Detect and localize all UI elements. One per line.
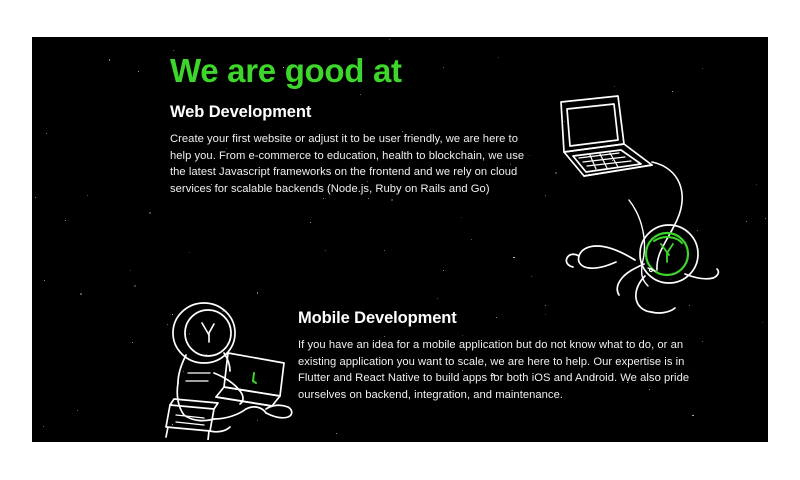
- floating-astronaut-with-laptop-illustration: [517, 92, 727, 317]
- star-dot: [437, 298, 438, 299]
- star-dot: [109, 59, 111, 61]
- star-dot: [461, 217, 462, 218]
- star-dot: [746, 221, 747, 222]
- star-dot: [132, 342, 133, 343]
- star-dot: [87, 195, 88, 196]
- star-dot: [368, 198, 369, 199]
- star-dot: [138, 71, 139, 72]
- star-dot: [360, 94, 361, 95]
- star-dot: [471, 239, 472, 240]
- section-body-web-development: Create your first website or adjust it t…: [170, 131, 528, 197]
- star-dot: [44, 280, 45, 281]
- star-dot: [702, 341, 703, 342]
- star-dot: [462, 335, 463, 336]
- star-dot: [35, 197, 36, 198]
- star-dot: [65, 220, 66, 221]
- star-dot: [756, 184, 757, 185]
- page-title: We are good at: [170, 54, 402, 87]
- star-dot: [189, 252, 190, 253]
- star-dot: [149, 212, 151, 214]
- star-dot: [310, 222, 311, 223]
- star-dot: [257, 292, 259, 294]
- star-dot: [336, 433, 337, 434]
- star-dot: [614, 86, 615, 87]
- star-dot: [130, 270, 131, 271]
- section-body-mobile-development: If you have an idea for a mobile applica…: [298, 337, 690, 403]
- star-dot: [384, 250, 385, 251]
- star-dot: [498, 57, 499, 58]
- star-dot: [77, 410, 78, 411]
- star-dot: [443, 67, 444, 68]
- star-dot: [134, 285, 136, 287]
- star-dot: [325, 250, 326, 251]
- star-dot: [389, 39, 390, 40]
- star-dot: [765, 218, 766, 219]
- star-dot: [43, 426, 44, 427]
- star-dot: [513, 257, 515, 259]
- star-dot: [443, 270, 444, 271]
- seated-astronaut-with-laptop-illustration: [152, 295, 322, 440]
- star-dot: [80, 293, 82, 295]
- star-dot: [762, 322, 763, 323]
- star-dot: [692, 415, 694, 417]
- section-heading-web-development: Web Development: [170, 103, 311, 122]
- star-dot: [496, 317, 497, 318]
- slide-canvas: We are good at Web Development Create yo…: [32, 37, 768, 442]
- star-dot: [323, 198, 324, 199]
- star-dot: [46, 133, 47, 134]
- star-dot: [391, 199, 393, 201]
- star-dot: [702, 68, 703, 69]
